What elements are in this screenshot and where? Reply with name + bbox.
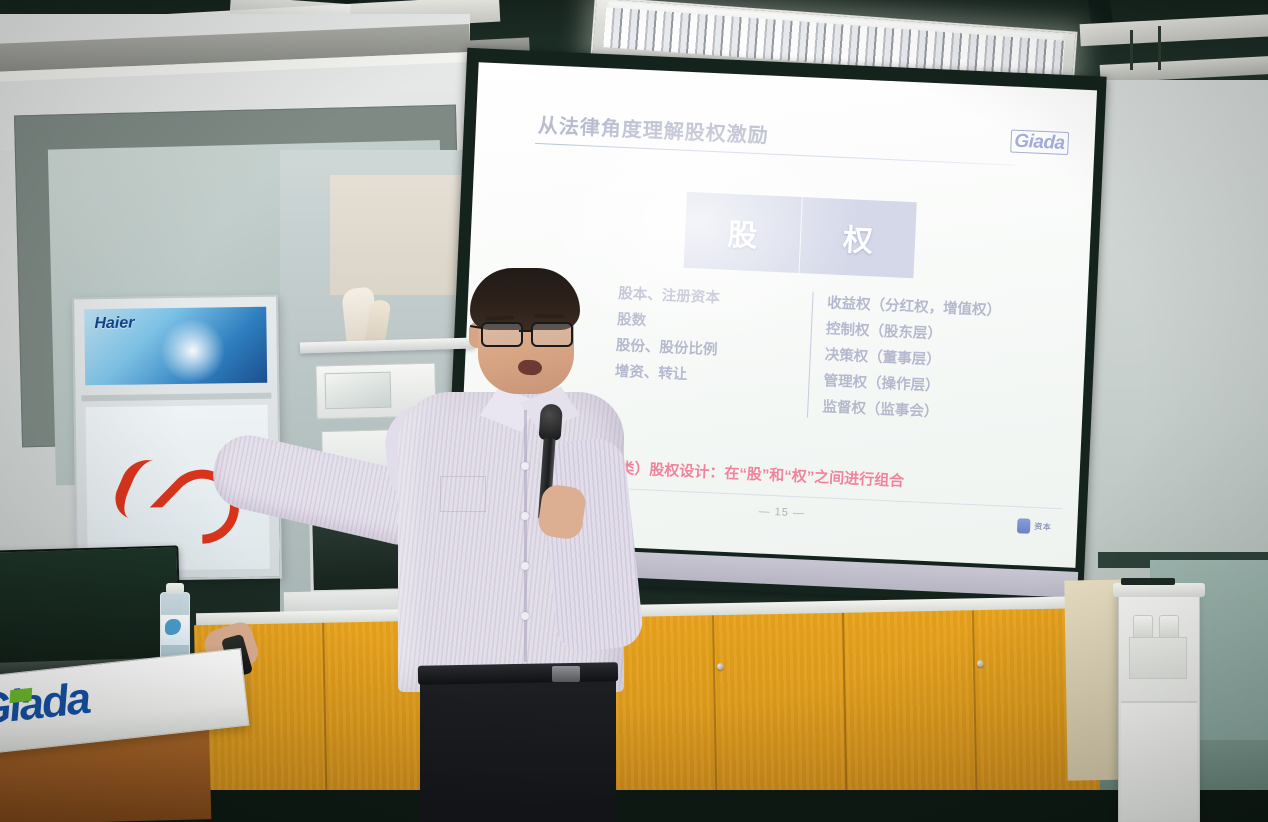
header-table: 股 权 bbox=[684, 192, 917, 278]
slide-content: 从法律角度理解股权激励 Giada 股 权 股本、注册资本 股数 股份、股份比例… bbox=[457, 62, 1097, 568]
haier-refrigerator: Haier bbox=[72, 295, 282, 582]
header-cell-gu: 股 bbox=[684, 192, 802, 273]
giada-logo-text: Giada bbox=[1010, 129, 1069, 155]
projection-screen: 从法律角度理解股权激励 Giada 股 权 股本、注册资本 股数 股份、股份比例… bbox=[443, 48, 1106, 606]
slide-page-number: — 15 — bbox=[758, 505, 805, 519]
cabinet-knob[interactable] bbox=[457, 666, 464, 673]
cabinet-knob[interactable] bbox=[977, 660, 984, 667]
sponsor-logo-mark bbox=[1017, 518, 1031, 534]
wall-panel bbox=[330, 175, 470, 295]
dispenser-tap-hot[interactable] bbox=[1133, 615, 1153, 639]
dispenser-top bbox=[1113, 583, 1205, 597]
microwave-window bbox=[325, 372, 392, 410]
sponsor-logo-text: 资本 bbox=[1034, 521, 1051, 533]
column-right: 收益权（分红权，增值权） 控制权（股东层） 决策权（董事层） 管理权（操作层） … bbox=[822, 290, 1079, 431]
bottle-cap bbox=[166, 583, 184, 594]
screen-surface: 从法律角度理解股权激励 Giada 股 权 股本、注册资本 股数 股份、股份比例… bbox=[457, 62, 1097, 568]
bottle-label bbox=[161, 615, 189, 645]
cabinet-knob[interactable] bbox=[717, 663, 724, 670]
oven bbox=[309, 515, 437, 594]
heart-poster-ink bbox=[147, 506, 205, 543]
water-dispenser bbox=[1118, 590, 1200, 822]
heart-poster-graphic bbox=[112, 453, 233, 555]
dispenser-drip-tray bbox=[1129, 637, 1187, 679]
fridge-door-seam bbox=[81, 393, 271, 402]
header-cell-quan: 权 bbox=[799, 197, 917, 278]
presentation-photo-scene: 从法律角度理解股权激励 Giada 股 权 股本、注册资本 股数 股份、股份比例… bbox=[0, 0, 1268, 822]
bottle-label-graphic bbox=[165, 619, 181, 635]
column-left: 股本、注册资本 股数 股份、股份比例 增资、转让 bbox=[613, 281, 813, 420]
fridge-upper-door-graphic: Haier bbox=[84, 307, 267, 386]
highlight-statement: （类）股权设计：在“股”和“权”之间进行组合 bbox=[604, 456, 905, 491]
title-underline bbox=[535, 143, 1015, 166]
haier-brand-text: Haier bbox=[94, 315, 134, 334]
dispenser-control-panel[interactable] bbox=[1121, 578, 1175, 585]
dispenser-tap-cold[interactable] bbox=[1159, 615, 1179, 639]
slide-title: 从法律角度理解股权激励 bbox=[537, 109, 769, 148]
laptop[interactable] bbox=[0, 545, 182, 672]
microwave-oven bbox=[315, 363, 436, 420]
dispenser-cabinet bbox=[1121, 701, 1197, 821]
light-hanger-wire bbox=[1130, 30, 1133, 70]
giada-logo-slide: Giada bbox=[1010, 130, 1069, 155]
light-hanger-wire bbox=[1158, 26, 1161, 70]
kitchen-appliance bbox=[321, 429, 403, 503]
giada-logo-podium: Giada bbox=[0, 674, 92, 736]
dispenser-taps[interactable] bbox=[1133, 615, 1181, 637]
giada-logo-accent bbox=[9, 688, 32, 704]
two-column-body: 股本、注册资本 股数 股份、股份比例 增资、转让 收益权（分红权，增值权） 控制… bbox=[613, 281, 1078, 432]
footer-sponsor-logo: 资本 bbox=[1017, 518, 1052, 535]
